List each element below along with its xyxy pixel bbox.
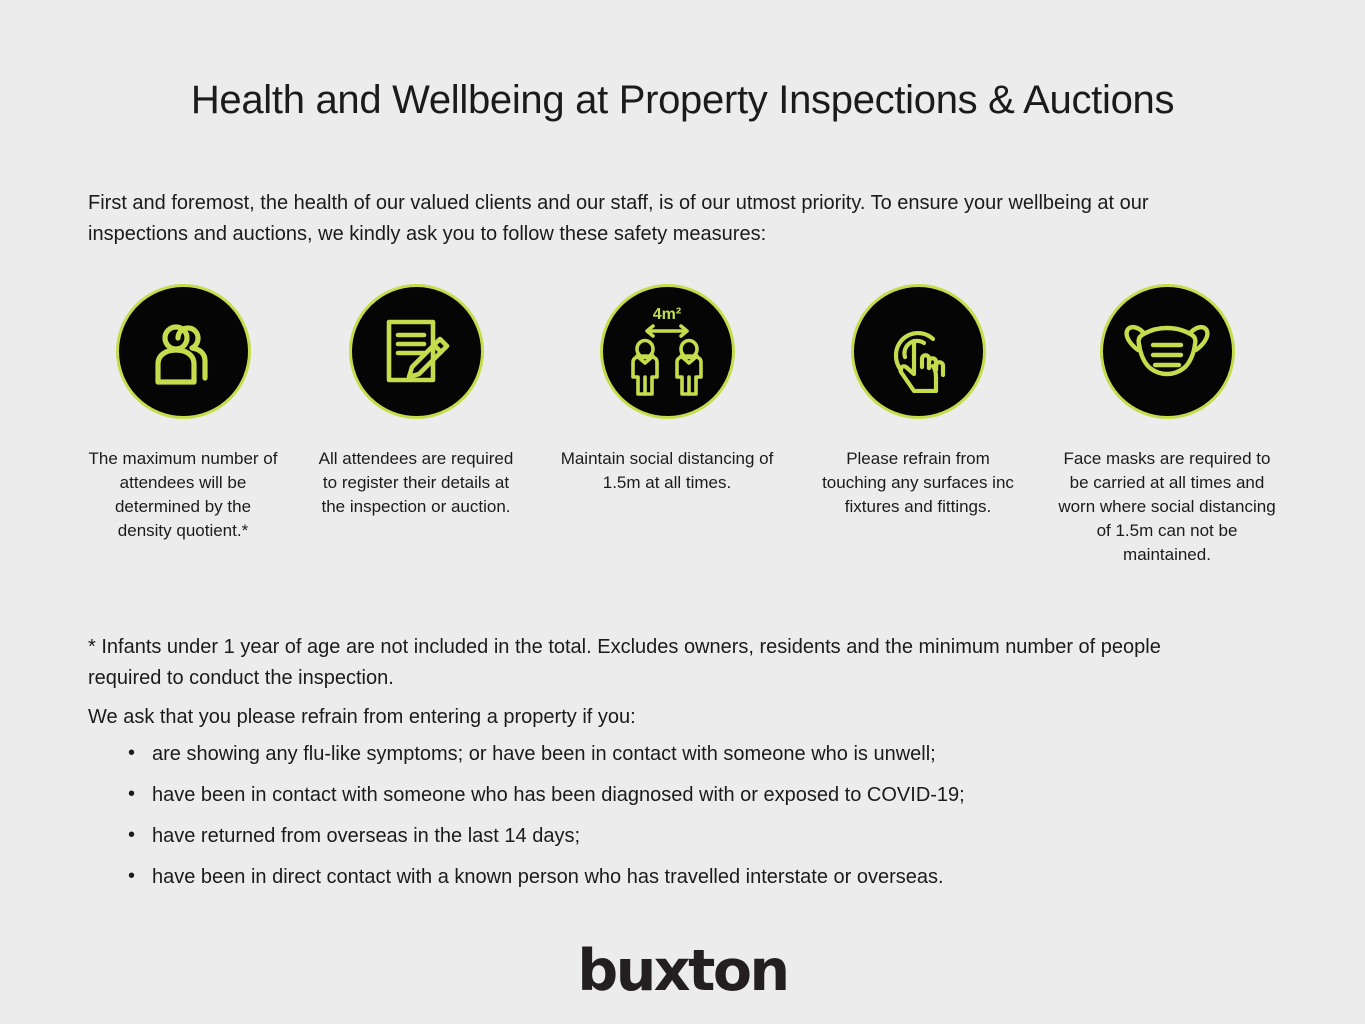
intro-paragraph: First and foremost, the health of our va… [88, 188, 1238, 250]
measure-caption: Please refrain from touching any surface… [812, 447, 1024, 519]
document-pencil-badge [349, 284, 484, 419]
social-distancing-badge: 4m² [600, 284, 735, 419]
svg-text:4m²: 4m² [653, 306, 681, 323]
social-distancing-icon: 4m² [620, 304, 714, 400]
two-people-icon [143, 312, 223, 392]
measure-item-registration: All attendees are required to register t… [310, 284, 522, 519]
measure-item-face-mask: Face masks are required to be carried at… [1056, 284, 1278, 567]
page-title: Health and Wellbeing at Property Inspect… [0, 78, 1365, 123]
measure-caption: Maintain social distancing of 1.5m at al… [554, 447, 780, 495]
list-item: have been in direct contact with a known… [122, 863, 1282, 891]
list-item: have been in contact with someone who ha… [122, 781, 1282, 809]
list-item: have returned from overseas in the last … [122, 822, 1282, 850]
document-pencil-icon [376, 312, 456, 392]
two-people-badge [116, 284, 251, 419]
list-item: are showing any flu-like symptoms; or ha… [122, 740, 1282, 768]
measure-item-attendees: The maximum number of attendees will be … [88, 284, 278, 543]
face-mask-icon [1122, 315, 1212, 389]
measure-caption: The maximum number of attendees will be … [88, 447, 278, 543]
face-mask-badge [1100, 284, 1235, 419]
footnote-text: * Infants under 1 year of age are not in… [88, 632, 1228, 694]
refrain-conditions-list: are showing any flu-like symptoms; or ha… [122, 740, 1282, 904]
measure-caption: Face masks are required to be carried at… [1056, 447, 1278, 567]
refrain-intro-text: We ask that you please refrain from ente… [88, 702, 1238, 733]
touch-hand-badge [851, 284, 986, 419]
buxton-logo: buxton [0, 938, 1365, 1004]
touch-hand-icon [877, 311, 959, 393]
measure-caption: All attendees are required to register t… [310, 447, 522, 519]
measure-item-distancing: 4m² [554, 284, 780, 495]
measure-item-no-touch: Please refrain from touching any surface… [812, 284, 1024, 519]
poster-page: Health and Wellbeing at Property Inspect… [0, 0, 1365, 1024]
safety-measures-row: The maximum number of attendees will be … [88, 284, 1278, 567]
